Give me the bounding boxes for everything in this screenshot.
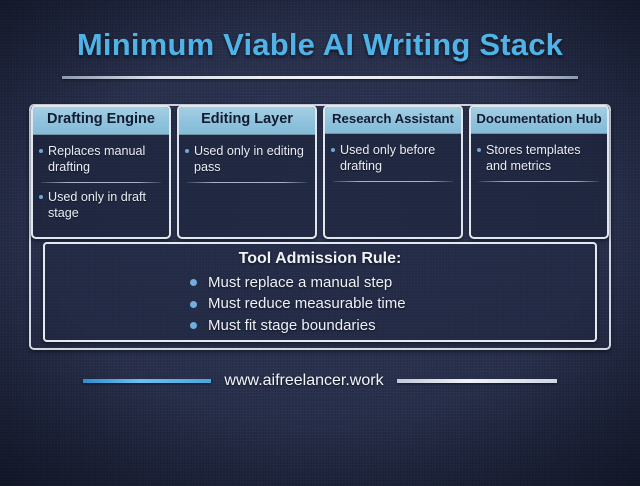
- card-divider: [187, 182, 307, 183]
- list-item: Stores templates and metrics: [477, 140, 603, 176]
- card-header-drafting-engine: Drafting Engine: [33, 107, 169, 135]
- rule-box-title: Tool Admission Rule:: [45, 250, 595, 268]
- card-editing-layer[interactable]: Editing Layer Used only in editing pass: [177, 105, 317, 239]
- bullet-text: Used only before drafting: [340, 142, 455, 174]
- card-documentation-hub[interactable]: Documentation Hub Stores templates and m…: [469, 105, 609, 239]
- list-item: Must fit stage boundaries: [190, 315, 595, 336]
- rule-item-text: Must fit stage boundaries: [208, 315, 376, 336]
- footer-rule-left: [83, 379, 211, 383]
- list-item: Replaces manual drafting: [39, 141, 165, 177]
- card-divider: [333, 181, 453, 182]
- rule-item-text: Must reduce measurable time: [208, 293, 406, 314]
- bullet-dot-icon: [190, 322, 197, 329]
- bullet-dot-icon: [477, 148, 481, 152]
- card-body-research-assistant: Used only before drafting: [325, 134, 461, 237]
- column-card-row: Drafting Engine Replaces manual drafting…: [31, 105, 609, 239]
- card-header-research-assistant: Research Assistant: [325, 107, 461, 134]
- card-body-drafting-engine: Replaces manual drafting Used only in dr…: [33, 135, 169, 237]
- bullet-dot-icon: [331, 148, 335, 152]
- bullet-dot-icon: [39, 149, 43, 153]
- list-item: Used only before drafting: [331, 140, 457, 176]
- rule-box-list: Must replace a manual step Must reduce m…: [45, 272, 595, 336]
- bullet-text: Stores templates and metrics: [486, 142, 601, 174]
- card-body-documentation-hub: Stores templates and metrics: [471, 134, 607, 237]
- card-divider: [479, 181, 599, 182]
- footer: www.aifreelancer.work: [0, 372, 640, 390]
- slide-stage: Minimum Viable AI Writing Stack Drafting…: [0, 0, 640, 486]
- card-body-editing-layer: Used only in editing pass: [179, 135, 315, 237]
- list-item: Must replace a manual step: [190, 272, 595, 293]
- bullet-dot-icon: [190, 301, 197, 308]
- list-item: Must reduce measurable time: [190, 293, 595, 314]
- footer-rule-right: [397, 379, 557, 383]
- card-header-documentation-hub: Documentation Hub: [471, 107, 607, 134]
- list-item: Used only in draft stage: [39, 187, 165, 223]
- tool-admission-rule-box: Tool Admission Rule: Must replace a manu…: [43, 242, 597, 342]
- bullet-text: Replaces manual drafting: [48, 143, 163, 175]
- card-drafting-engine[interactable]: Drafting Engine Replaces manual drafting…: [31, 105, 171, 239]
- card-divider: [41, 182, 161, 183]
- title-underline: [62, 76, 578, 79]
- bullet-dot-icon: [185, 149, 189, 153]
- bullet-text: Used only in draft stage: [48, 189, 163, 221]
- card-header-editing-layer: Editing Layer: [179, 107, 315, 135]
- bullet-dot-icon: [190, 279, 197, 286]
- card-research-assistant[interactable]: Research Assistant Used only before draf…: [323, 105, 463, 239]
- bullet-text: Used only in editing pass: [194, 143, 309, 175]
- rule-item-text: Must replace a manual step: [208, 272, 392, 293]
- list-item: Used only in editing pass: [185, 141, 311, 177]
- bullet-dot-icon: [39, 195, 43, 199]
- page-title: Minimum Viable AI Writing Stack: [0, 27, 640, 63]
- footer-url[interactable]: www.aifreelancer.work: [224, 372, 383, 390]
